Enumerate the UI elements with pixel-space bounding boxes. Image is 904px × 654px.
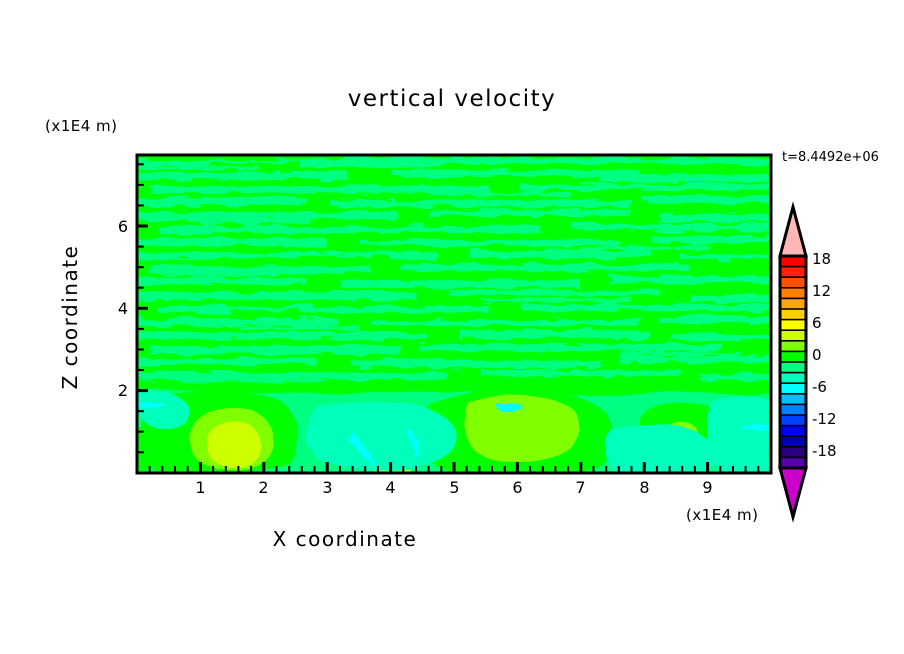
colorbar-band xyxy=(780,277,806,288)
y-tick-label: 6 xyxy=(106,217,128,236)
colorbar-band xyxy=(780,362,806,373)
x-tick-label: 5 xyxy=(442,478,467,497)
colorbar xyxy=(780,207,806,517)
colorbar-bands xyxy=(780,256,806,469)
colorbar-band xyxy=(780,373,806,384)
colorbar-tick-label: -12 xyxy=(812,410,837,428)
y-tick-label: 4 xyxy=(106,299,128,318)
colorbar-band xyxy=(780,256,806,267)
x-tick-label: 9 xyxy=(695,478,720,497)
colorbar-band xyxy=(780,267,806,278)
x-tick-label: 7 xyxy=(568,478,593,497)
colorbar-band xyxy=(780,436,806,447)
x-tick-label: 6 xyxy=(505,478,530,497)
x-tick-label: 1 xyxy=(188,478,213,497)
colorbar-band xyxy=(780,394,806,405)
x-tick-label: 2 xyxy=(251,478,276,497)
colorbar-band xyxy=(780,415,806,426)
colorbar-band xyxy=(780,404,806,415)
colorbar-tick-label: 6 xyxy=(812,314,822,332)
colorbar-band xyxy=(780,309,806,320)
colorbar-band xyxy=(780,298,806,309)
colorbar-underflow-cap-bottom xyxy=(780,468,806,517)
colorbar-overflow-cap-top xyxy=(780,207,806,256)
colorbar-band xyxy=(780,341,806,352)
x-tick-label: 3 xyxy=(315,478,340,497)
colorbar-tick-label: 12 xyxy=(812,282,831,300)
colorbar-band xyxy=(780,383,806,394)
contour-field xyxy=(130,155,790,476)
colorbar-tick-label: -6 xyxy=(812,378,827,396)
colorbar-band xyxy=(780,447,806,458)
y-tick-label: 2 xyxy=(106,381,128,400)
colorbar-band xyxy=(780,288,806,299)
x-tick-label: 4 xyxy=(378,478,403,497)
colorbar-tick-label: 0 xyxy=(812,346,822,364)
colorbar-tick-label: -18 xyxy=(812,442,837,460)
convective-layer-lower xyxy=(136,389,778,476)
x-tick-label: 8 xyxy=(632,478,657,497)
colorbar-tick-label: 18 xyxy=(812,250,831,268)
plot-canvas xyxy=(0,0,904,654)
colorbar-band xyxy=(780,426,806,437)
colorbar-band xyxy=(780,330,806,341)
contour-plot-figure: vertical velocity (x1E4 m) (x1E4 m) X co… xyxy=(0,0,904,654)
colorbar-band xyxy=(780,320,806,331)
colorbar-band xyxy=(780,351,806,362)
